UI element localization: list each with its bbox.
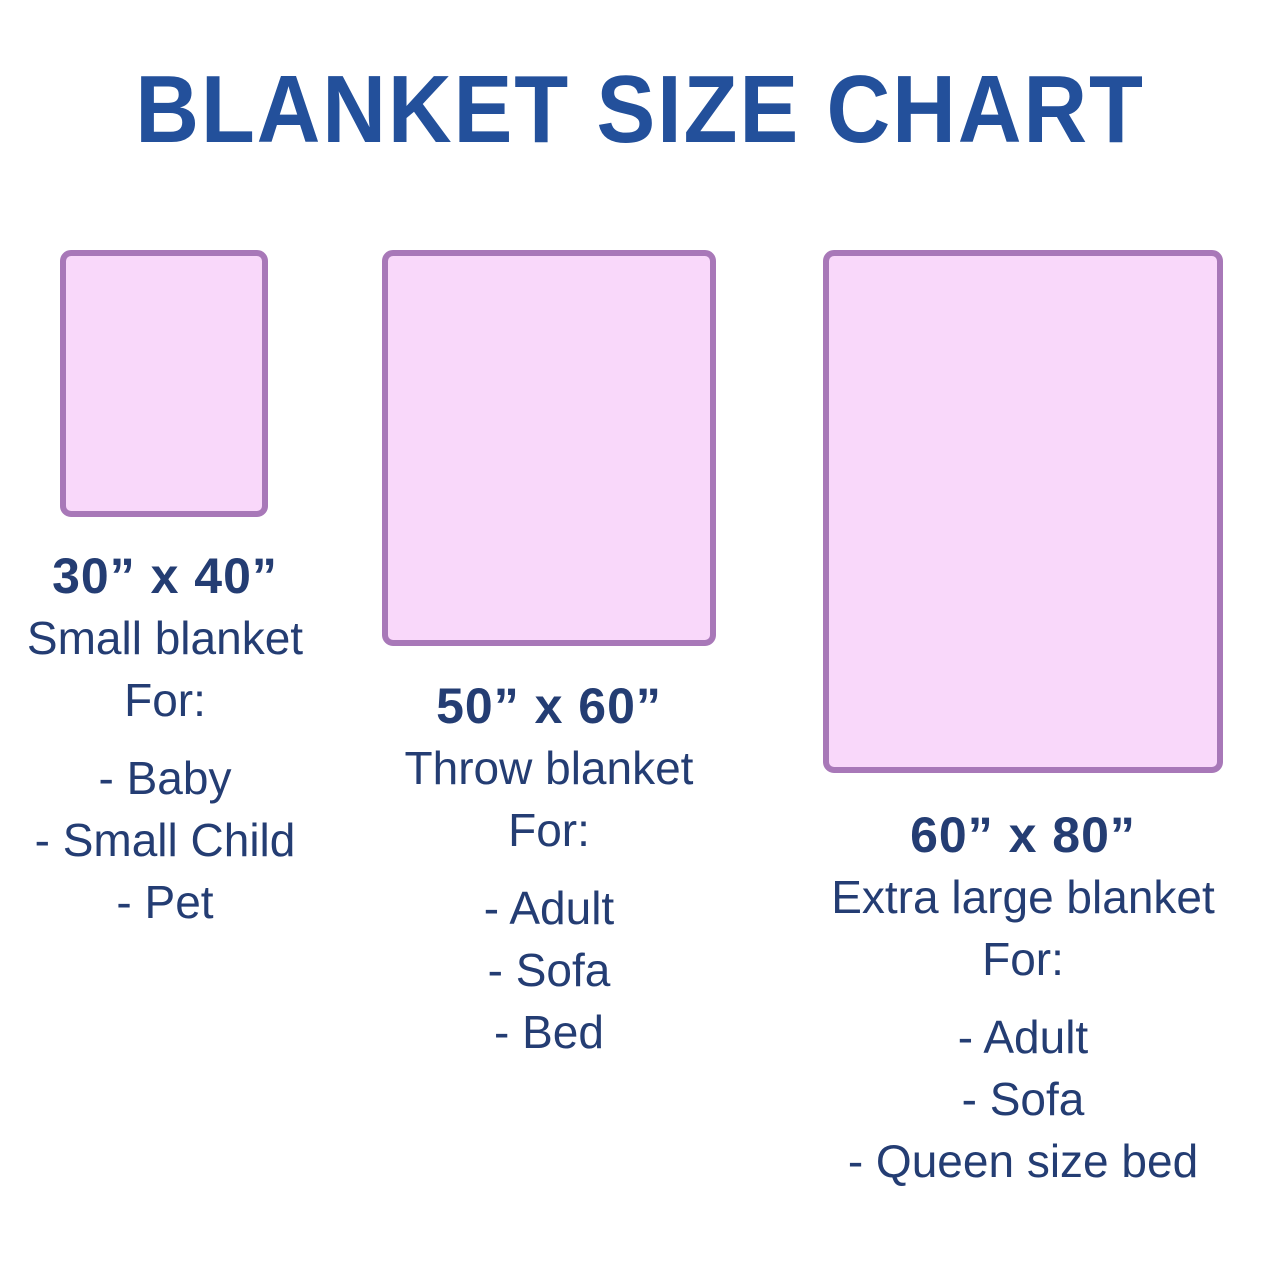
blanket-name-xlarge: Extra large blanket	[790, 866, 1256, 928]
spacer	[348, 861, 750, 877]
blanket-name-small: Small blanket	[0, 607, 330, 669]
blanket-swatch-throw	[382, 250, 716, 646]
blanket-use-item: - Baby	[0, 747, 330, 809]
blanket-size-throw: 50” x 60”	[348, 675, 750, 737]
blanket-column-small: 30” x 40” Small blanket For: - Baby - Sm…	[0, 250, 330, 933]
blanket-use-item: - Queen size bed	[790, 1130, 1256, 1192]
blanket-size-small: 30” x 40”	[0, 545, 330, 607]
blanket-label-block-xlarge: 60” x 80” Extra large blanket For: - Adu…	[790, 804, 1256, 1192]
blanket-for-label-small: For:	[0, 669, 330, 731]
blanket-swatch-small	[60, 250, 268, 517]
blanket-column-xlarge: 60” x 80” Extra large blanket For: - Adu…	[790, 250, 1256, 1192]
blanket-use-item: - Bed	[348, 1001, 750, 1063]
blanket-label-block-throw: 50” x 60” Throw blanket For: - Adult - S…	[348, 675, 750, 1063]
blanket-use-item: - Pet	[0, 871, 330, 933]
blanket-use-item: - Small Child	[0, 809, 330, 871]
blanket-label-block-small: 30” x 40” Small blanket For: - Baby - Sm…	[0, 545, 330, 933]
blanket-use-item: - Sofa	[790, 1068, 1256, 1130]
blanket-size-xlarge: 60” x 80”	[790, 804, 1256, 866]
blanket-for-label-xlarge: For:	[790, 928, 1256, 990]
blanket-use-item: - Sofa	[348, 939, 750, 1001]
blanket-use-item: - Adult	[790, 1006, 1256, 1068]
spacer	[790, 990, 1256, 1006]
blanket-use-item: - Adult	[348, 877, 750, 939]
spacer	[0, 731, 330, 747]
page-title: BLANKET SIZE CHART	[51, 62, 1229, 158]
blanket-swatch-xlarge	[823, 250, 1223, 773]
blanket-for-label-throw: For:	[348, 799, 750, 861]
blanket-name-throw: Throw blanket	[348, 737, 750, 799]
blanket-column-throw: 50” x 60” Throw blanket For: - Adult - S…	[348, 250, 750, 1063]
